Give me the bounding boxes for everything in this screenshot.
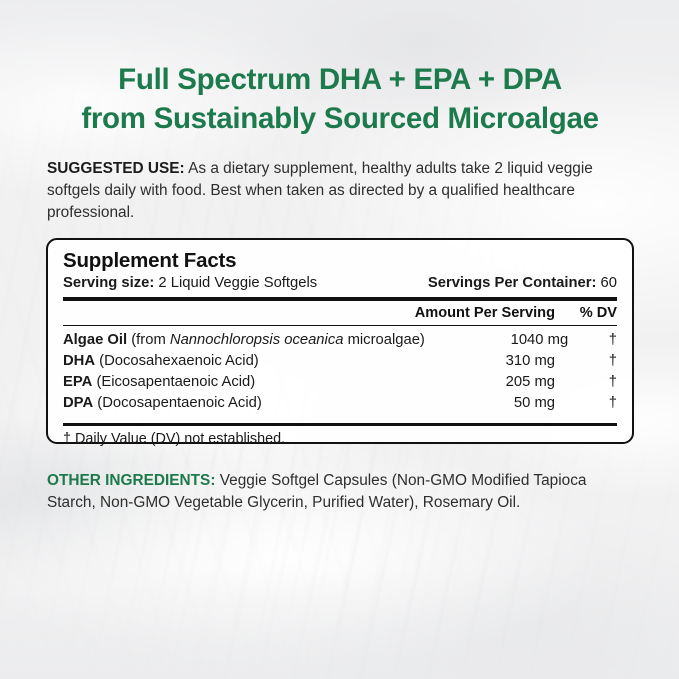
nutrient-name: DHA (Docosahexaenoic Acid) bbox=[63, 351, 373, 372]
page-title: Full Spectrum DHA + EPA + DPA from Susta… bbox=[46, 60, 634, 138]
nutrient-name-pre: (Eicosapentaenoic Acid) bbox=[92, 374, 255, 390]
nutrient-name: EPA (Eicosapentaenoic Acid) bbox=[63, 372, 373, 393]
nutrient-daily-value: † bbox=[555, 372, 617, 393]
nutrient-name-post: microalgae) bbox=[343, 332, 424, 348]
column-header-amount-per-serving: Amount Per Serving bbox=[373, 305, 555, 321]
servings-per-container-value: 60 bbox=[596, 275, 617, 291]
daily-value-footnote: † Daily Value (DV) not established. bbox=[63, 426, 617, 447]
servings-per-container: Servings Per Container: 60 bbox=[428, 274, 617, 293]
nutrient-amount: 50 mg bbox=[373, 393, 555, 414]
nutrient-name: DPA (Docosapentaenoic Acid) bbox=[63, 393, 373, 414]
nutrient-name-pre: (Docosapentaenoic Acid) bbox=[93, 395, 262, 411]
column-header-percent-dv: % DV bbox=[555, 305, 617, 321]
nutrient-daily-value: † bbox=[555, 351, 617, 372]
suggested-use-section: SUGGESTED USE: As a dietary supplement, … bbox=[47, 158, 633, 225]
page-title-line-2: from Sustainably Sourced Microalgae bbox=[46, 99, 634, 138]
nutrient-amount: 205 mg bbox=[373, 372, 555, 393]
column-headers: Amount Per Serving % DV bbox=[63, 301, 617, 323]
nutrient-name-pre: (from bbox=[127, 332, 170, 348]
suggested-use-label: SUGGESTED USE: bbox=[47, 160, 185, 177]
serving-size-value: 2 Liquid Veggie Softgels bbox=[154, 275, 317, 291]
servings-per-container-label: Servings Per Container: bbox=[428, 275, 597, 291]
table-row: Algae Oil (from Nannochloropsis oceanica… bbox=[63, 330, 617, 351]
nutrient-name-bold: EPA bbox=[63, 374, 92, 390]
table-row: EPA (Eicosapentaenoic Acid) 205 mg † bbox=[63, 372, 617, 393]
table-row: DPA (Docosapentaenoic Acid) 50 mg † bbox=[63, 393, 617, 414]
nutrient-name-pre: (Docosahexaenoic Acid) bbox=[95, 353, 259, 369]
other-ingredients-section: OTHER INGREDIENTS: Veggie Softgel Capsul… bbox=[47, 470, 633, 514]
nutrient-name: Algae Oil (from Nannochloropsis oceanica… bbox=[63, 330, 425, 351]
nutrient-name-bold: DPA bbox=[63, 395, 93, 411]
nutrient-name-bold: DHA bbox=[63, 353, 95, 369]
nutrient-daily-value: † bbox=[568, 330, 617, 351]
supplement-label-page: Full Spectrum DHA + EPA + DPA from Susta… bbox=[0, 0, 679, 679]
table-row: DHA (Docosahexaenoic Acid) 310 mg † bbox=[63, 351, 617, 372]
page-title-line-1: Full Spectrum DHA + EPA + DPA bbox=[46, 60, 634, 99]
nutrient-amount: 1040 mg bbox=[425, 330, 568, 351]
other-ingredients-label: OTHER INGREDIENTS: bbox=[47, 472, 215, 489]
nutrient-daily-value: † bbox=[555, 393, 617, 414]
supplement-facts-title: Supplement Facts bbox=[63, 249, 617, 273]
serving-size: Serving size: 2 Liquid Veggie Softgels bbox=[63, 274, 317, 293]
nutrient-rows: Algae Oil (from Nannochloropsis oceanica… bbox=[63, 326, 617, 415]
supplement-facts-panel: Supplement Facts Serving size: 2 Liquid … bbox=[46, 238, 634, 444]
serving-size-label: Serving size: bbox=[63, 275, 154, 291]
nutrient-name-bold: Algae Oil bbox=[63, 332, 127, 348]
nutrient-name-italic: Nannochloropsis oceanica bbox=[170, 332, 344, 348]
serving-info-row: Serving size: 2 Liquid Veggie Softgels S… bbox=[63, 274, 617, 293]
nutrient-amount: 310 mg bbox=[373, 351, 555, 372]
